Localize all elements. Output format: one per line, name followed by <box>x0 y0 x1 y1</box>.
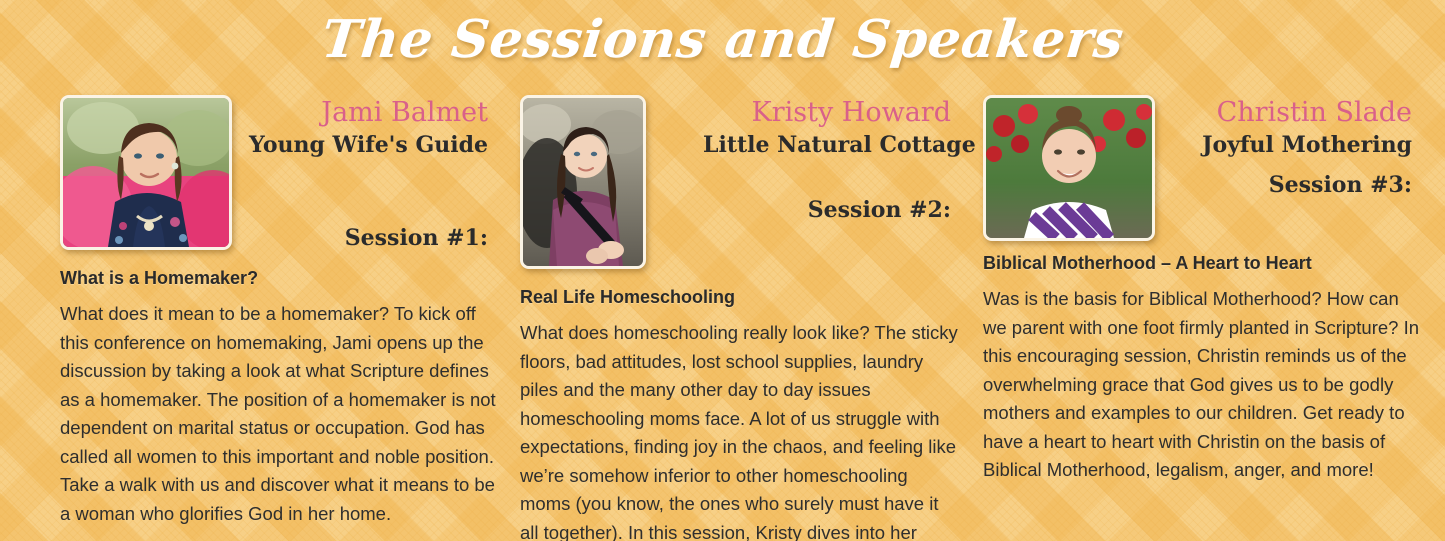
session-title: Real Life Homeschooling <box>520 285 960 309</box>
portrait-image-2 <box>523 98 643 266</box>
session-description: What does homeschooling really look like… <box>520 319 960 541</box>
portrait-image-3 <box>986 98 1152 238</box>
session-label: Session #2: <box>703 196 951 224</box>
speaker-name: Jami Balmet <box>244 96 488 130</box>
speaker-photo-christin-slade <box>983 95 1155 241</box>
page-title: The Sessions and Speakers <box>319 10 1127 70</box>
speaker-info-3: Christin Slade Joyful Mothering <box>1166 96 1412 160</box>
session-description: Was is the basis for Biblical Motherhood… <box>983 285 1421 485</box>
speaker-site: Little Natural Cottage <box>703 130 951 160</box>
session-description: What does it mean to be a homemaker? To … <box>60 300 502 528</box>
speaker-site: Joyful Mothering <box>1166 130 1412 160</box>
portrait-image-1 <box>63 98 229 247</box>
session-title: What is a Homemaker? <box>60 266 490 290</box>
speaker-site: Young Wife's Guide <box>244 130 488 160</box>
sessions-and-speakers-page: The Sessions and Speakers <box>0 0 1445 541</box>
speaker-info-1: Jami Balmet Young Wife's Guide <box>244 96 488 160</box>
session-label: Session #3: <box>1166 171 1412 199</box>
speaker-info-2: Kristy Howard Little Natural Cottage <box>703 96 951 160</box>
speaker-name: Christin Slade <box>1166 96 1412 130</box>
session-title: Biblical Motherhood – A Heart to Heart <box>983 251 1413 275</box>
speaker-photo-kristy-howard <box>520 95 646 269</box>
speaker-photo-jami-balmet <box>60 95 232 250</box>
session-label: Session #1: <box>244 224 488 252</box>
page-header: The Sessions and Speakers <box>0 0 1445 80</box>
speaker-name: Kristy Howard <box>703 96 951 130</box>
